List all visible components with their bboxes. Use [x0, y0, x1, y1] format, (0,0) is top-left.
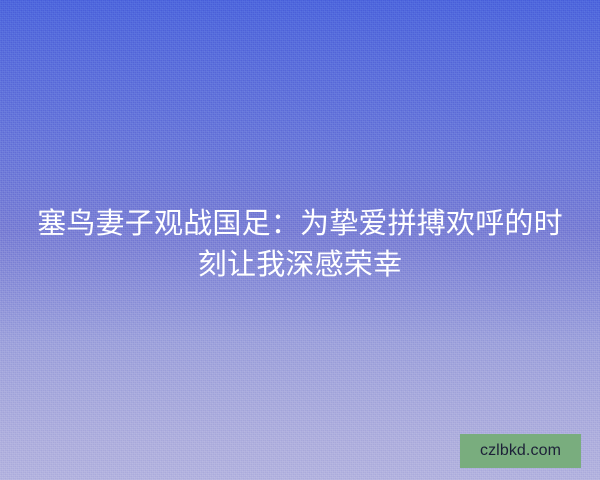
watermark-label: czlbkd.com — [480, 443, 561, 459]
headline-title: 塞鸟妻子观战国足：为挚爱拼搏欢呼的时刻让我深感荣幸 — [28, 204, 572, 286]
watermark-badge: czlbkd.com — [460, 434, 581, 468]
image-canvas: 塞鸟妻子观战国足：为挚爱拼搏欢呼的时刻让我深感荣幸 czlbkd.com — [0, 0, 600, 480]
